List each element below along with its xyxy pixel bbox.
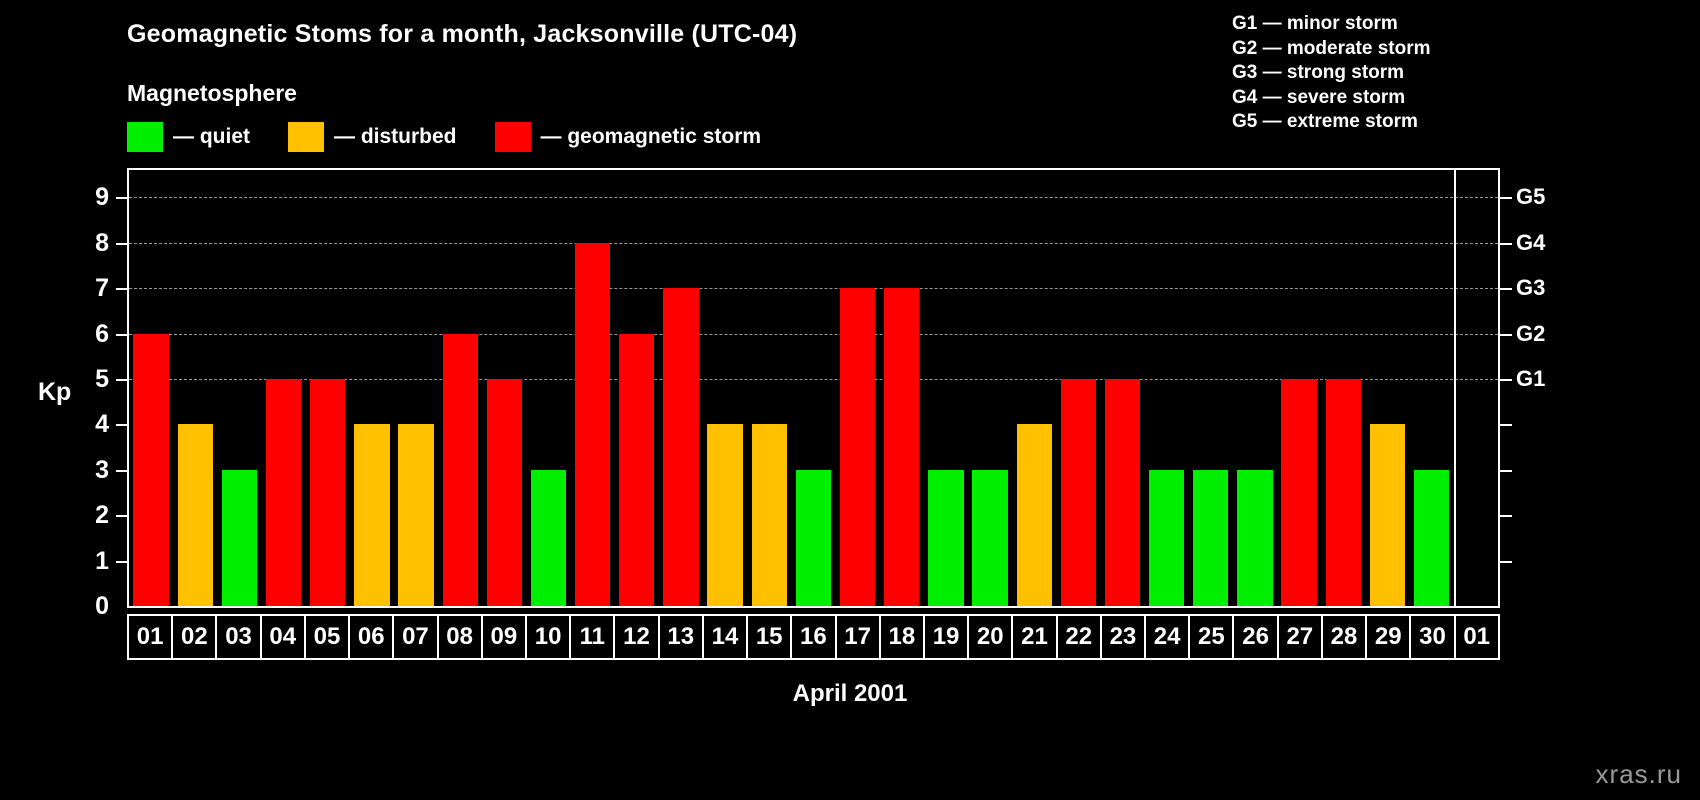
legend-label-quiet: — quiet <box>173 125 250 149</box>
g-scale-line-3: G3 — strong storm <box>1232 61 1431 86</box>
legend-item-quiet: — quiet <box>127 122 288 152</box>
x-label-21-20[interactable]: 21 <box>1013 616 1057 658</box>
x-label-23-22[interactable]: 23 <box>1102 616 1146 658</box>
bar-cell-09-8[interactable] <box>482 170 526 606</box>
y-tick-mark-2 <box>116 515 127 517</box>
g-scale-line-5: G5 — extreme storm <box>1232 110 1431 135</box>
bar[interactable] <box>796 470 831 606</box>
bar[interactable] <box>663 288 698 606</box>
bar-cell-23-22[interactable] <box>1100 170 1144 606</box>
g-scale-line-2: G2 — moderate storm <box>1232 37 1431 62</box>
x-label-03-2[interactable]: 03 <box>217 616 261 658</box>
bar[interactable] <box>575 243 610 606</box>
legend-swatch-storm <box>495 122 531 152</box>
bar-cell-01-30[interactable] <box>1454 170 1498 606</box>
x-label-07-6[interactable]: 07 <box>394 616 438 658</box>
bar-cell-11-10[interactable] <box>571 170 615 606</box>
y-tick-label-7: 7 <box>79 276 109 301</box>
bar-cell-16-15[interactable] <box>791 170 835 606</box>
x-label-26-25[interactable]: 26 <box>1234 616 1278 658</box>
y-axis-title: Kp <box>38 378 71 407</box>
bar[interactable] <box>222 470 257 606</box>
g-tick-mark-kp-4 <box>1500 424 1512 426</box>
legend-item-disturbed: — disturbed <box>288 122 495 152</box>
bar-cell-20-19[interactable] <box>968 170 1012 606</box>
legend: — quiet— disturbed— geomagnetic storm <box>127 122 799 152</box>
y-tick-label-9: 9 <box>79 185 109 210</box>
bar-cell-13-12[interactable] <box>659 170 703 606</box>
legend-item-storm: — geomagnetic storm <box>495 122 800 152</box>
bar[interactable] <box>531 470 566 606</box>
bar-series <box>129 170 1498 606</box>
y-tick-mark-9 <box>116 197 127 199</box>
bar-cell-12-11[interactable] <box>615 170 659 606</box>
bar-cell-19-18[interactable] <box>924 170 968 606</box>
x-label-19-18[interactable]: 19 <box>925 616 969 658</box>
g-tick-mark-kp-8 <box>1500 243 1512 245</box>
bar-cell-30-29[interactable] <box>1410 170 1454 606</box>
y-tick-label-4: 4 <box>79 412 109 437</box>
bar[interactable] <box>443 334 478 607</box>
g-scale-line-4: G4 — severe storm <box>1232 86 1431 111</box>
bar[interactable] <box>354 424 389 606</box>
x-label-05-4[interactable]: 05 <box>306 616 350 658</box>
bar[interactable] <box>1017 424 1052 606</box>
bar[interactable] <box>1149 470 1184 606</box>
bar[interactable] <box>1237 470 1272 606</box>
bar-cell-27-26[interactable] <box>1277 170 1321 606</box>
magnetosphere-label: Magnetosphere <box>127 80 297 107</box>
x-label-09-8[interactable]: 09 <box>483 616 527 658</box>
x-label-29-28[interactable]: 29 <box>1367 616 1411 658</box>
bar-cell-15-14[interactable] <box>747 170 791 606</box>
bar[interactable] <box>133 334 168 607</box>
bar-cell-21-20[interactable] <box>1012 170 1056 606</box>
g-tick-label-G4: G4 <box>1516 232 1545 254</box>
bar[interactable] <box>619 334 654 607</box>
bar-cell-26-25[interactable] <box>1233 170 1277 606</box>
bar[interactable] <box>884 288 919 606</box>
g-tick-mark-kp-3 <box>1500 470 1512 472</box>
bar-cell-01-0[interactable] <box>129 170 173 606</box>
x-label-17-16[interactable]: 17 <box>837 616 881 658</box>
bar[interactable] <box>972 470 1007 606</box>
bar-cell-02-1[interactable] <box>173 170 217 606</box>
bar[interactable] <box>310 379 345 606</box>
bar-cell-06-5[interactable] <box>350 170 394 606</box>
bar-cell-17-16[interactable] <box>836 170 880 606</box>
bar-cell-25-24[interactable] <box>1189 170 1233 606</box>
g-tick-mark-kp-6 <box>1500 334 1512 336</box>
bar-cell-24-23[interactable] <box>1145 170 1189 606</box>
bar-cell-22-21[interactable] <box>1056 170 1100 606</box>
bar[interactable] <box>1281 379 1316 606</box>
y-tick-mark-5 <box>116 379 127 381</box>
x-label-01-30[interactable]: 01 <box>1456 616 1498 658</box>
y-tick-mark-3 <box>116 470 127 472</box>
bar-cell-28-27[interactable] <box>1321 170 1365 606</box>
g-tick-label-G5: G5 <box>1516 186 1545 208</box>
g-tick-label-G1: G1 <box>1516 368 1545 390</box>
g-tick-mark-kp-1 <box>1500 561 1512 563</box>
y-tick-mark-6 <box>116 334 127 336</box>
bar[interactable] <box>398 424 433 606</box>
bar-cell-14-13[interactable] <box>703 170 747 606</box>
x-label-14-13[interactable]: 14 <box>704 616 748 658</box>
g-tick-mark-kp-2 <box>1500 515 1512 517</box>
x-label-18-17[interactable]: 18 <box>881 616 925 658</box>
bar-cell-04-3[interactable] <box>261 170 305 606</box>
x-label-30-29[interactable]: 30 <box>1411 616 1455 658</box>
x-label-01-0[interactable]: 01 <box>129 616 173 658</box>
y-tick-label-0: 0 <box>79 594 109 619</box>
x-label-10-9[interactable]: 10 <box>527 616 571 658</box>
x-label-13-12[interactable]: 13 <box>660 616 704 658</box>
bar[interactable] <box>1105 379 1140 606</box>
bar[interactable] <box>178 424 213 606</box>
bar-cell-10-9[interactable] <box>526 170 570 606</box>
bar[interactable] <box>707 424 742 606</box>
bar-cell-29-28[interactable] <box>1365 170 1409 606</box>
y-tick-mark-7 <box>116 288 127 290</box>
g-scale-line-1: G1 — minor storm <box>1232 12 1431 37</box>
x-label-28-27[interactable]: 28 <box>1323 616 1367 658</box>
x-label-15-14[interactable]: 15 <box>748 616 792 658</box>
plot-inner <box>129 170 1498 606</box>
y-tick-mark-4 <box>116 424 127 426</box>
page-title: Geomagnetic Stoms for a month, Jacksonvi… <box>127 20 797 49</box>
x-label-11-10[interactable]: 11 <box>571 616 615 658</box>
x-label-20-19[interactable]: 20 <box>969 616 1013 658</box>
g-tick-mark-kp-5 <box>1500 379 1512 381</box>
bar[interactable] <box>840 288 875 606</box>
bar[interactable] <box>487 379 522 606</box>
x-label-02-1[interactable]: 02 <box>173 616 217 658</box>
bar-cell-07-6[interactable] <box>394 170 438 606</box>
x-label-12-11[interactable]: 12 <box>615 616 659 658</box>
bar-cell-03-2[interactable] <box>217 170 261 606</box>
y-tick-label-2: 2 <box>79 503 109 528</box>
y-tick-mark-8 <box>116 243 127 245</box>
legend-label-storm: — geomagnetic storm <box>541 125 762 149</box>
y-tick-label-6: 6 <box>79 322 109 347</box>
legend-swatch-quiet <box>127 122 163 152</box>
g-tick-label-G3: G3 <box>1516 277 1545 299</box>
legend-label-disturbed: — disturbed <box>334 125 457 149</box>
bar[interactable] <box>1326 379 1361 606</box>
bar-cell-18-17[interactable] <box>880 170 924 606</box>
x-label-08-7[interactable]: 08 <box>439 616 483 658</box>
g-tick-mark-kp-9 <box>1500 197 1512 199</box>
x-label-22-21[interactable]: 22 <box>1058 616 1102 658</box>
x-label-27-26[interactable]: 27 <box>1279 616 1323 658</box>
x-axis-title: April 2001 <box>0 680 1700 708</box>
y-tick-label-5: 5 <box>79 367 109 392</box>
g-scale-legend: G1 — minor stormG2 — moderate stormG3 — … <box>1232 12 1431 135</box>
x-label-04-3[interactable]: 04 <box>262 616 306 658</box>
y-tick-label-3: 3 <box>79 458 109 483</box>
x-label-24-23[interactable]: 24 <box>1146 616 1190 658</box>
x-label-06-5[interactable]: 06 <box>350 616 394 658</box>
bar[interactable] <box>1061 379 1096 606</box>
y-tick-label-8: 8 <box>79 231 109 256</box>
bar[interactable] <box>1193 470 1228 606</box>
g-tick-mark-kp-7 <box>1500 288 1512 290</box>
bar[interactable] <box>1414 470 1449 606</box>
y-tick-mark-1 <box>116 561 127 563</box>
x-axis-labels: 0102030405060708091011121314151617181920… <box>127 614 1500 660</box>
bar[interactable] <box>266 379 301 606</box>
bar[interactable] <box>752 424 787 606</box>
bar-cell-05-4[interactable] <box>306 170 350 606</box>
right-divider <box>1454 170 1456 606</box>
plot-area <box>127 168 1500 608</box>
legend-swatch-disturbed <box>288 122 324 152</box>
bar-cell-08-7[interactable] <box>438 170 482 606</box>
watermark: xras.ru <box>1596 759 1682 790</box>
bar[interactable] <box>928 470 963 606</box>
x-label-16-15[interactable]: 16 <box>792 616 836 658</box>
g-tick-label-G2: G2 <box>1516 323 1545 345</box>
x-label-25-24[interactable]: 25 <box>1190 616 1234 658</box>
bar[interactable] <box>1370 424 1405 606</box>
y-tick-label-1: 1 <box>79 549 109 574</box>
